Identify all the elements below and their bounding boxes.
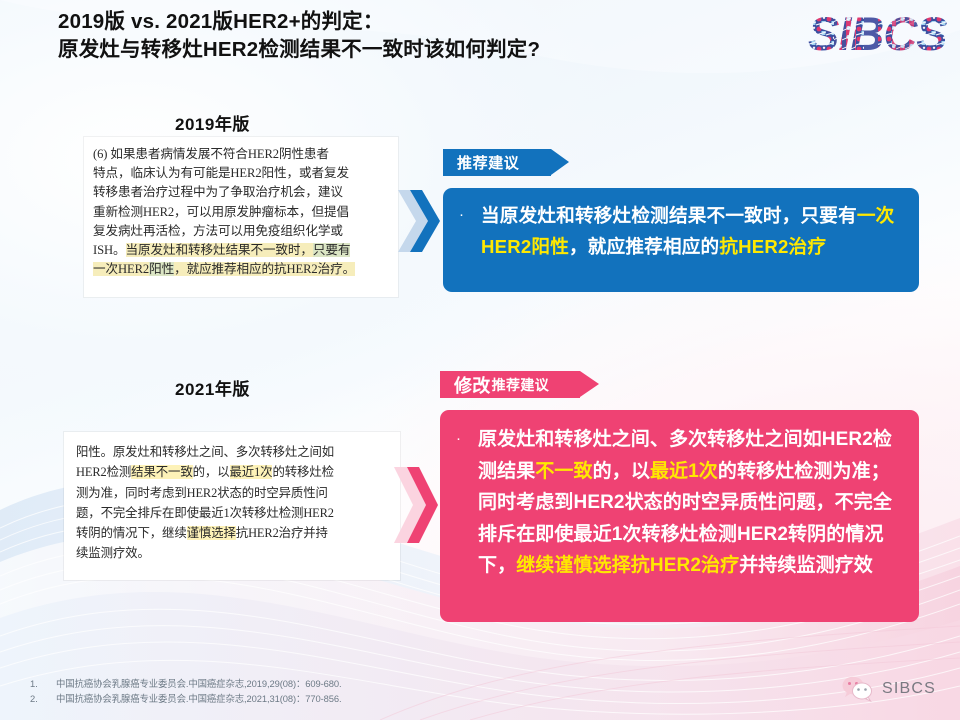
scan-text: 特点，临床认为有可能是HER2阳性，或者复发 [93, 166, 349, 180]
scan-line: 重新检测HER2，可以用原发肿瘤标本，但提倡 [93, 203, 389, 222]
page-title: 2019版 vs. 2021版HER2+的判定： 原发灶与转移灶HER2检测结果… [58, 8, 778, 65]
scan-text-highlighted: 当原发灶和转移灶结果不一致时， [126, 243, 313, 257]
callout-text-run: 并持续监测疗效 [739, 555, 873, 576]
tag-arrow-shape [580, 371, 599, 397]
chevron-arrow-blue-icon [396, 186, 442, 256]
scan-image-2019: (6) 如果患者病情发展不符合HER2阴性患者特点，临床认为有可能是HER2阳性… [84, 137, 398, 297]
callout-text-emphasis: 抗HER2治疗 [719, 236, 826, 257]
callout-box-2021: · 原发灶和转移灶之间、多次转移灶之间如HER2检测结果不一致的，以最近1次的转… [440, 410, 919, 622]
scan-text: ISH。 [93, 243, 126, 257]
scan-text-highlighted: 阳性 [149, 262, 174, 276]
scan-line: 续监测疗效。 [76, 543, 388, 563]
scan-text: 复发病灶再活检，方法可以用免疫组织化学或 [93, 224, 343, 238]
callout-text-run: 的，以 [593, 461, 650, 482]
scan-text: HER2检测 [76, 465, 131, 479]
scan-text-highlighted: 最近1次 [230, 465, 273, 479]
reference-text: 中国抗癌协会乳腺癌专业委员会.中国癌症杂志,2019,29(08)：609-68… [56, 677, 510, 692]
scan-text-highlighted: 只要有 [313, 243, 350, 257]
scan-text: 的，以 [193, 465, 230, 479]
tag-modified-prefix: 修改 [454, 372, 491, 398]
callout-box-2019: · 当原发灶和转移灶检测结果不一致时，只要有一次HER2阳性，就应推荐相应的抗H… [443, 188, 919, 292]
section-label-2019: 2019年版 [175, 110, 250, 135]
callout-text-2019: 当原发灶和转移灶检测结果不一致时，只要有一次HER2阳性，就应推荐相应的抗HER… [481, 200, 903, 280]
scan-line: 转阴的情况下，继续谨慎选择抗HER2治疗并持 [76, 523, 388, 543]
scan-line: 阳性。原发灶和转移灶之间、多次转移灶之间如 [76, 442, 388, 462]
scan-line: (6) 如果患者病情发展不符合HER2阴性患者 [93, 145, 389, 164]
scan-line: 测为准，同时考虑到HER2状态的时空异质性问 [76, 483, 388, 503]
reference-text: 中国抗癌协会乳腺癌专业委员会.中国癌症杂志,2021,31(08)：770-85… [56, 692, 510, 707]
scan-line: HER2检测结果不一致的，以最近1次的转移灶检 [76, 462, 388, 482]
scan-text: 续监测疗效。 [76, 546, 150, 560]
scan-text-highlighted: 一次HER2 [93, 262, 149, 276]
scan-line: 一次HER2阳性，就应推荐相应的抗HER2治疗。 [93, 260, 389, 279]
callout-text-emphasis: 最近1次 [650, 461, 718, 482]
tag-recommendation: 推荐建议 [443, 149, 551, 176]
scan-line: 特点，临床认为有可能是HER2阳性，或者复发 [93, 164, 389, 183]
scan-text: 重新检测HER2，可以用原发肿瘤标本，但提倡 [93, 205, 349, 219]
callout-text-run: ，就应推荐相应的 [569, 236, 719, 257]
scan-text-highlighted: ，就应推荐相应的抗HER2治疗。 [174, 262, 355, 276]
scan-line: 转移患者治疗过程中为了争取治疗机会，建议 [93, 183, 389, 202]
scan-text-highlighted: 谨慎选择 [187, 526, 236, 540]
callout-text-emphasis: 不一致 [535, 461, 592, 482]
sibcs-logo: SIBCS [806, 6, 954, 62]
scan-text: 题，不完全排斥在即使最近1次转移灶检测HER2 [76, 506, 334, 520]
callout-text-run: 当原发灶和转移灶检测结果不一致时，只要有 [481, 205, 857, 226]
scan-text: 的转移灶检 [272, 465, 333, 479]
scan-text-highlighted: 结果不一致 [131, 465, 192, 479]
wechat-icon [841, 676, 875, 702]
wechat-footer: SIBCS [841, 674, 936, 704]
scan-text: (6) 如果患者病情发展不符合HER2阴性患者 [93, 147, 329, 161]
reference-list: 1.中国抗癌协会乳腺癌专业委员会.中国癌症杂志,2019,29(08)：609-… [30, 677, 510, 706]
chevron-arrow-pink-icon [392, 462, 440, 548]
scan-image-2021: 阳性。原发灶和转移灶之间、多次转移灶之间如HER2检测结果不一致的，以最近1次的… [64, 432, 400, 580]
scan-text: 转移患者治疗过程中为了争取治疗机会，建议 [93, 185, 343, 199]
bullet-marker: · [450, 424, 478, 610]
tag-modified-label: 推荐建议 [492, 375, 550, 395]
reference-number: 2. [30, 692, 56, 707]
scan-line: 复发病灶再活检，方法可以用免疫组织化学或 [93, 222, 389, 241]
reference-item: 2.中国抗癌协会乳腺癌专业委员会.中国癌症杂志,2021,31(08)：770-… [30, 692, 510, 707]
reference-number: 1. [30, 677, 56, 692]
tag-modified-recommendation: 修改 推荐建议 [440, 371, 580, 398]
scan-line: ISH。当原发灶和转移灶结果不一致时，只要有 [93, 241, 389, 260]
scan-text: 抗HER2治疗并持 [236, 526, 328, 540]
scan-line: 题，不完全排斥在即使最近1次转移灶检测HER2 [76, 503, 388, 523]
scan-text: 阳性。原发灶和转移灶之间、多次转移灶之间如 [76, 445, 334, 459]
tag-recommendation-label: 推荐建议 [457, 152, 519, 173]
slide-header: 2019版 vs. 2021版HER2+的判定： 原发灶与转移灶HER2检测结果… [0, 0, 960, 78]
callout-text-2021: 原发灶和转移灶之间、多次转移灶之间如HER2检测结果不一致的，以最近1次的转移灶… [478, 424, 905, 610]
scan-text: 测为准，同时考虑到HER2状态的时空异质性问 [76, 486, 328, 500]
slide-canvas: 2019版 vs. 2021版HER2+的判定： 原发灶与转移灶HER2检测结果… [0, 0, 960, 720]
tag-arrow-shape [551, 149, 569, 175]
bullet-marker: · [453, 200, 481, 280]
scan-text: 转阴的情况下，继续 [76, 526, 187, 540]
wechat-account-name: SIBCS [882, 680, 936, 698]
callout-text-emphasis: 继续谨慎选择抗HER2治疗 [516, 555, 739, 576]
reference-item: 1.中国抗癌协会乳腺癌专业委员会.中国癌症杂志,2019,29(08)：609-… [30, 677, 510, 692]
section-label-2021: 2021年版 [175, 375, 250, 400]
